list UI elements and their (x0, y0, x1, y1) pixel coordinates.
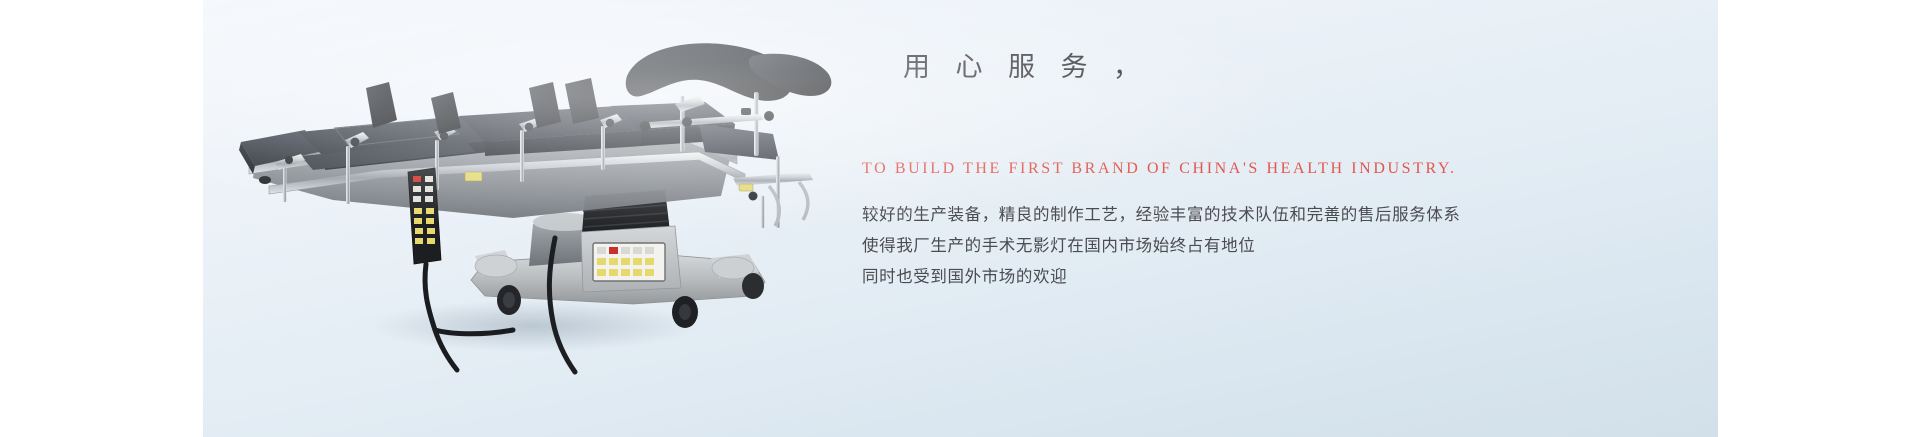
banner-subheadline-english: TO BUILD THE FIRST BRAND OF CHINA'S HEAL… (862, 158, 1457, 180)
base-control-cabinet (581, 226, 681, 292)
body-line-2: 使得我厂生产的手术无影灯在国内市场始终占有地位 (862, 231, 1682, 262)
warning-label (739, 184, 753, 191)
body-line-3: 同时也受到国外市场的欢迎 (862, 262, 1682, 293)
keypad-buttons (597, 247, 654, 276)
right-accessory-arms (733, 156, 813, 228)
banner-panel: 用 心 服 务 ， TO BUILD THE FIRST BRAND OF CH… (203, 0, 1718, 437)
banner-body-copy: 较好的生产装备，精良的制作工艺，经验丰富的技术队伍和完善的售后服务体系 使得我厂… (862, 200, 1682, 293)
operating-table-svg (213, 0, 873, 437)
operating-table-image (213, 0, 873, 437)
banner-text-block: 用 心 服 务 ， TO BUILD THE FIRST BRAND OF CH… (858, 0, 1698, 437)
banner-headline: 用 心 服 务 ， (903, 50, 1149, 84)
body-line-1: 较好的生产装备，精良的制作工艺，经验丰富的技术队伍和完善的售后服务体系 (862, 200, 1682, 231)
warning-label-left (465, 172, 482, 181)
ground-shadow (368, 300, 698, 352)
promo-banner: 用 心 服 务 ， TO BUILD THE FIRST BRAND OF CH… (0, 0, 1920, 437)
